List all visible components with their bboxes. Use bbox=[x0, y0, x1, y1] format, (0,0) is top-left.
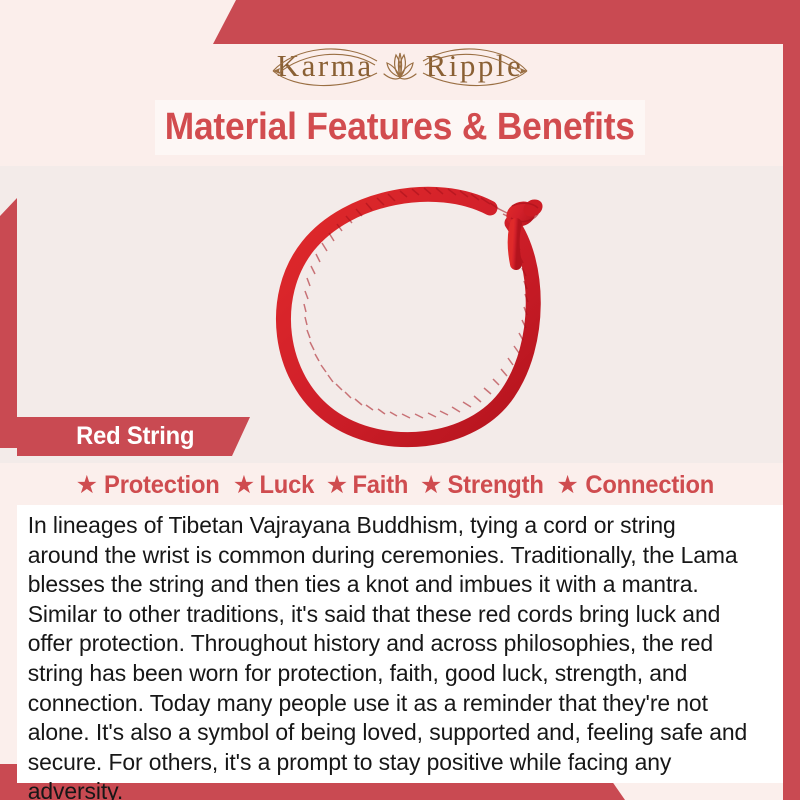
star-icon: ★ bbox=[420, 473, 442, 498]
benefit-label: Connection bbox=[585, 471, 714, 500]
lotus-icon bbox=[380, 48, 420, 82]
brand-logo: Karma Ripple bbox=[0, 36, 800, 94]
benefit-label: Strength bbox=[448, 471, 544, 500]
description-card: In lineages of Tibetan Vajrayana Buddhis… bbox=[17, 505, 783, 783]
material-label-banner: Red String bbox=[17, 417, 250, 456]
page-title-banner: Material Features & Benefits bbox=[155, 100, 645, 155]
benefit-item-luck: ★ Luck bbox=[233, 471, 323, 500]
page-title: Material Features & Benefits bbox=[165, 106, 635, 149]
material-label: Red String bbox=[76, 422, 194, 451]
product-image bbox=[250, 168, 590, 462]
star-icon: ★ bbox=[326, 473, 348, 498]
brand-name-left: Karma bbox=[277, 50, 374, 81]
right-red-edge bbox=[783, 0, 800, 800]
benefit-label: Faith bbox=[353, 471, 409, 500]
red-string-bracelet-icon bbox=[250, 168, 590, 462]
brand-name-right: Ripple bbox=[426, 50, 524, 81]
infographic-page: Karma Ripple Material Features & Benefit… bbox=[0, 0, 800, 800]
star-icon: ★ bbox=[233, 473, 255, 498]
benefit-item-connection: ★ Connection bbox=[556, 471, 724, 500]
benefit-item-protection: ★ Protection bbox=[76, 471, 230, 500]
benefits-row: ★ Protection ★ Luck ★ Faith ★ Strength ★… bbox=[20, 466, 780, 504]
left-red-edge bbox=[0, 198, 17, 448]
star-icon: ★ bbox=[76, 473, 98, 498]
benefit-item-faith: ★ Faith bbox=[326, 471, 417, 500]
benefit-label: Protection bbox=[104, 471, 220, 500]
benefit-label: Luck bbox=[260, 471, 315, 500]
star-icon: ★ bbox=[556, 473, 578, 498]
description-text: In lineages of Tibetan Vajrayana Buddhis… bbox=[17, 505, 764, 800]
benefit-item-strength: ★ Strength bbox=[420, 471, 554, 500]
